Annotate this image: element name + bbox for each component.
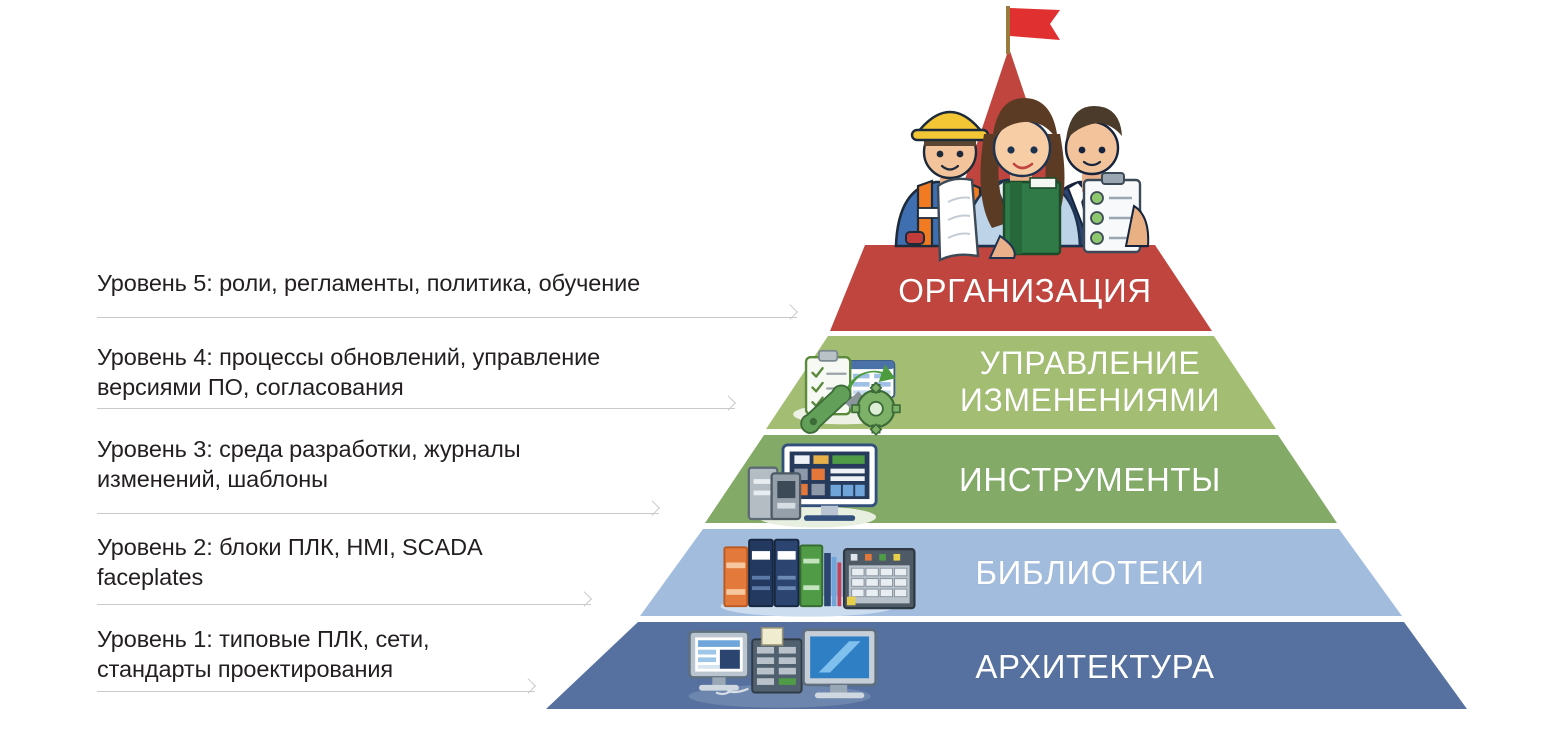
binders-plc-rack-icon	[721, 540, 915, 617]
pyramid-infographic: Уровень 5: роли, регламенты, политика, о…	[0, 0, 1560, 729]
pyramid-shape	[0, 0, 1560, 729]
band-label-level-3: ИНСТРУМЕНТЫ	[930, 461, 1250, 499]
clipboard-gear-wrench-icon	[793, 351, 900, 435]
flag-pole-icon	[1006, 6, 1010, 54]
band-label-level-4: УПРАВЛЕНИЕ ИЗМЕНЕНИЯМИ	[935, 345, 1245, 419]
band-label-level-2: БИБЛИОТЕКИ	[935, 554, 1245, 592]
team-with-flag-icon	[896, 98, 1148, 260]
band-label-level-1: АРХИТЕКТУРА	[940, 648, 1250, 686]
workstation-network-icon	[689, 628, 876, 708]
band-label-level-5: ОРГАНИЗАЦИЯ	[875, 272, 1175, 310]
flag-icon	[1010, 8, 1060, 40]
